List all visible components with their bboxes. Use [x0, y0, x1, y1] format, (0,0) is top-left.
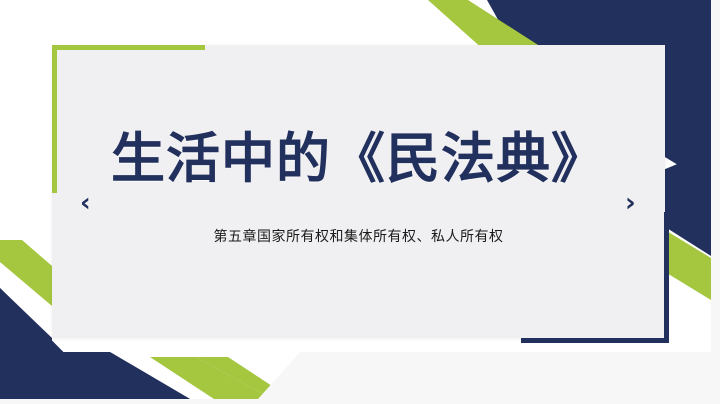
card-accent-green-top — [52, 45, 205, 50]
page-title: 生活中的《民法典》 — [111, 132, 606, 186]
title-row: 生活中的《民法典》 — [52, 118, 665, 200]
page-subtitle: 第五章国家所有权和集体所有权、私人所有权 — [52, 228, 665, 248]
chevron-right-icon: › — [625, 190, 636, 216]
page-edge-bottom — [0, 399, 720, 404]
presentation-slide: 生活中的《民法典》 ‹ › 第五章国家所有权和集体所有权、私人所有权 — [0, 0, 720, 404]
card-accent-navy-bottom — [521, 338, 669, 343]
page-edge-right — [711, 0, 720, 404]
subtitle-row: 第五章国家所有权和集体所有权、私人所有权 — [52, 228, 665, 248]
chevron-left-icon: ‹ — [80, 190, 91, 216]
